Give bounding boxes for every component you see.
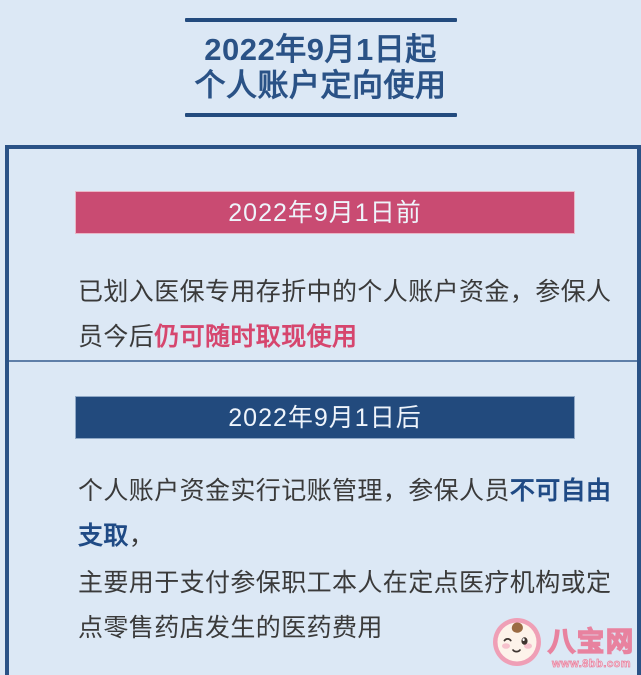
section-after: 2022年9月1日后 个人账户资金实行记账管理，参保人员不可自由支取， 主要用于… xyxy=(9,362,641,651)
page-title: 2022年9月1日起 个人账户定向使用 xyxy=(195,32,447,104)
paragraph-after-lead: 个人账户资金实行记账管理，参保人员 xyxy=(78,477,510,505)
header-rule-bottom xyxy=(185,113,457,117)
content-box: 2022年9月1日前 已划入医保专用存折中的个人账户资金，参保人员今后仍可随时取… xyxy=(5,145,641,675)
section-banner-after: 2022年9月1日后 xyxy=(75,396,575,439)
banner-wrap-after: 2022年9月1日后 xyxy=(9,362,641,439)
page-title-line-1: 2022年9月1日起 xyxy=(195,32,447,68)
header-rule-top xyxy=(185,18,457,22)
paragraph-after: 个人账户资金实行记账管理，参保人员不可自由支取， xyxy=(9,469,641,559)
banner-wrap-before: 2022年9月1日前 xyxy=(9,149,641,234)
page-header: 2022年9月1日起 个人账户定向使用 xyxy=(0,0,641,117)
page-title-line-2: 个人账户定向使用 xyxy=(195,68,447,104)
paragraph-after-tail: ， xyxy=(129,522,154,550)
paragraph-before: 已划入医保专用存折中的个人账户资金，参保人员今后仍可随时取现使用 xyxy=(9,270,641,360)
paragraph-before-emphasis: 仍可随时取现使用 xyxy=(154,323,357,351)
section-banner-before: 2022年9月1日前 xyxy=(75,191,575,234)
section-before: 2022年9月1日前 已划入医保专用存折中的个人账户资金，参保人员今后仍可随时取… xyxy=(9,149,641,360)
paragraph-after-extra: 主要用于支付参保职工本人在定点医疗机构或定点零售药店发生的医药费用 xyxy=(9,561,641,651)
